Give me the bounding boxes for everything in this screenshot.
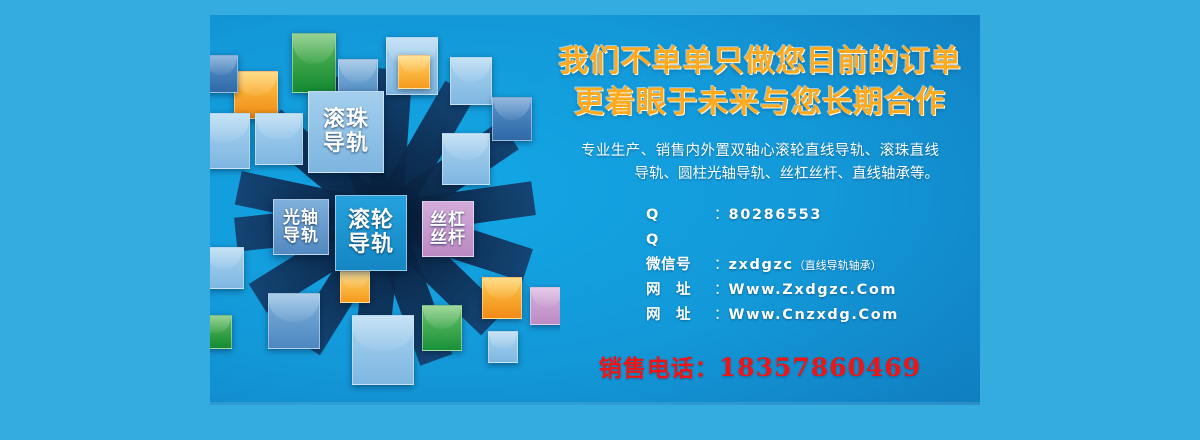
contact-separator: ： xyxy=(714,278,729,303)
contact-value-website-1[interactable]: Www.Zxdgzc.Com xyxy=(729,278,898,303)
product-box-line1: 滚轮 xyxy=(348,208,394,233)
contact-row-qq: Q Q ： 80286553 xyxy=(646,203,980,253)
sales-phone-label: 销售电话： xyxy=(599,356,719,382)
contact-label: 微信号 xyxy=(646,253,714,278)
contact-separator: ： xyxy=(714,203,729,228)
product-description: 专业生产、销售内外置双轴心滚轮直线导轨、滚珠直线导轨、圆柱光轴导轨、丝杠丝杆、直… xyxy=(581,140,939,187)
sales-phone-number[interactable]: 18357860469 xyxy=(719,353,921,382)
decor-cube xyxy=(482,277,522,319)
headline: 我们不单单只做您目前的订单 更着眼于未来与您长期合作 xyxy=(540,15,980,124)
contact-label: 网 址 xyxy=(646,303,714,328)
contact-row-website-2: 网 址 ： Www.Cnzxdg.Com xyxy=(646,303,980,328)
decor-cube xyxy=(210,247,244,289)
decor-cube xyxy=(268,293,320,349)
contact-note-wechat: （直线导轨轴承） xyxy=(794,257,882,276)
product-box-roller-rail: 滚轮 导轨 xyxy=(335,195,407,271)
decor-cube xyxy=(442,133,490,185)
decor-cube xyxy=(340,271,370,303)
product-box-line1: 滚珠 xyxy=(323,107,369,132)
headline-line-1: 我们不单单只做您目前的订单 xyxy=(540,41,980,82)
contact-separator: ： xyxy=(714,303,729,328)
product-box-line1: 丝杠 xyxy=(430,210,466,230)
product-box-lead-screw: 丝杠 丝杆 xyxy=(422,201,474,257)
headline-line-2: 更着眼于未来与您长期合作 xyxy=(540,82,980,123)
decor-cube xyxy=(352,315,414,385)
product-box-line1: 光轴 xyxy=(283,208,319,228)
contact-label: 网 址 xyxy=(646,278,714,303)
promo-banner: 滚珠 导轨 光轴 导轨 滚轮 导轨 丝杠 丝杆 xyxy=(210,15,980,405)
contact-row-website-1: 网 址 ： Www.Zxdgzc.Com xyxy=(646,278,980,303)
decor-cube xyxy=(292,33,336,93)
decor-cube xyxy=(234,71,278,119)
decor-cube xyxy=(210,315,232,349)
decor-cube xyxy=(492,97,532,141)
product-box-ball-rail: 滚珠 导轨 xyxy=(308,91,384,173)
decor-cube xyxy=(488,331,518,363)
decor-cube xyxy=(450,57,492,105)
contact-separator: ： xyxy=(714,253,729,278)
decor-cube xyxy=(255,113,303,165)
decor-cube xyxy=(398,55,430,89)
product-box-line2: 导轨 xyxy=(283,226,319,246)
decor-cube xyxy=(422,305,462,351)
product-box-shaft-rail: 光轴 导轨 xyxy=(273,199,329,255)
product-box-line2: 丝杆 xyxy=(430,228,466,248)
contact-label: Q Q xyxy=(646,203,714,253)
banner-content: 我们不单单只做您目前的订单 更着眼于未来与您长期合作 专业生产、销售内外置双轴心… xyxy=(540,15,980,405)
contact-row-wechat: 微信号 ： zxdgzc （直线导轨轴承） xyxy=(646,253,980,278)
decor-cube xyxy=(210,113,250,169)
contact-list: Q Q ： 80286553 微信号 ： zxdgzc （直线导轨轴承） 网 址… xyxy=(646,203,980,328)
decor-cube xyxy=(210,55,238,93)
product-box-line2: 导轨 xyxy=(348,232,394,257)
product-box-line2: 导轨 xyxy=(323,131,369,156)
banner-page: 滚珠 导轨 光轴 导轨 滚轮 导轨 丝杠 丝杆 xyxy=(0,0,1200,440)
sales-phone: 销售电话：18357860469 xyxy=(540,349,980,383)
contact-value-wechat[interactable]: zxdgzc xyxy=(729,253,794,278)
cube-cluster-graphic: 滚珠 导轨 光轴 导轨 滚轮 导轨 丝杠 丝杆 xyxy=(210,15,560,405)
contact-value-website-2[interactable]: Www.Cnzxdg.Com xyxy=(729,303,900,328)
contact-value-qq[interactable]: 80286553 xyxy=(729,203,823,228)
